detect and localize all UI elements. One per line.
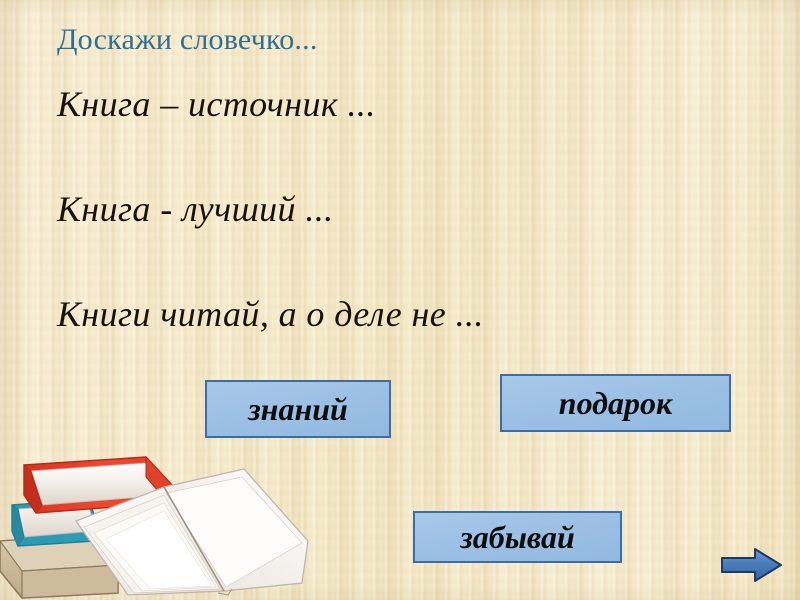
answer-option-zabyvay[interactable]: забывай [413,511,622,563]
prompt-line-3: Книги читай, а о деле не ... [57,296,484,334]
next-arrow-icon[interactable] [722,549,781,581]
next-arrow-button[interactable] [719,545,785,585]
answer-option-znaniy[interactable]: знаний [205,380,391,438]
prompt-line-2: Книга - лучший ... [57,191,334,229]
slide-canvas: Доскажи словечко... Книга – источник ...… [0,0,800,600]
page-title: Доскажи словечко... [57,24,318,56]
answer-option-podarok[interactable]: подарок [500,374,731,432]
books-illustration [0,443,326,600]
prompt-line-1: Книга – источник ... [57,86,376,124]
